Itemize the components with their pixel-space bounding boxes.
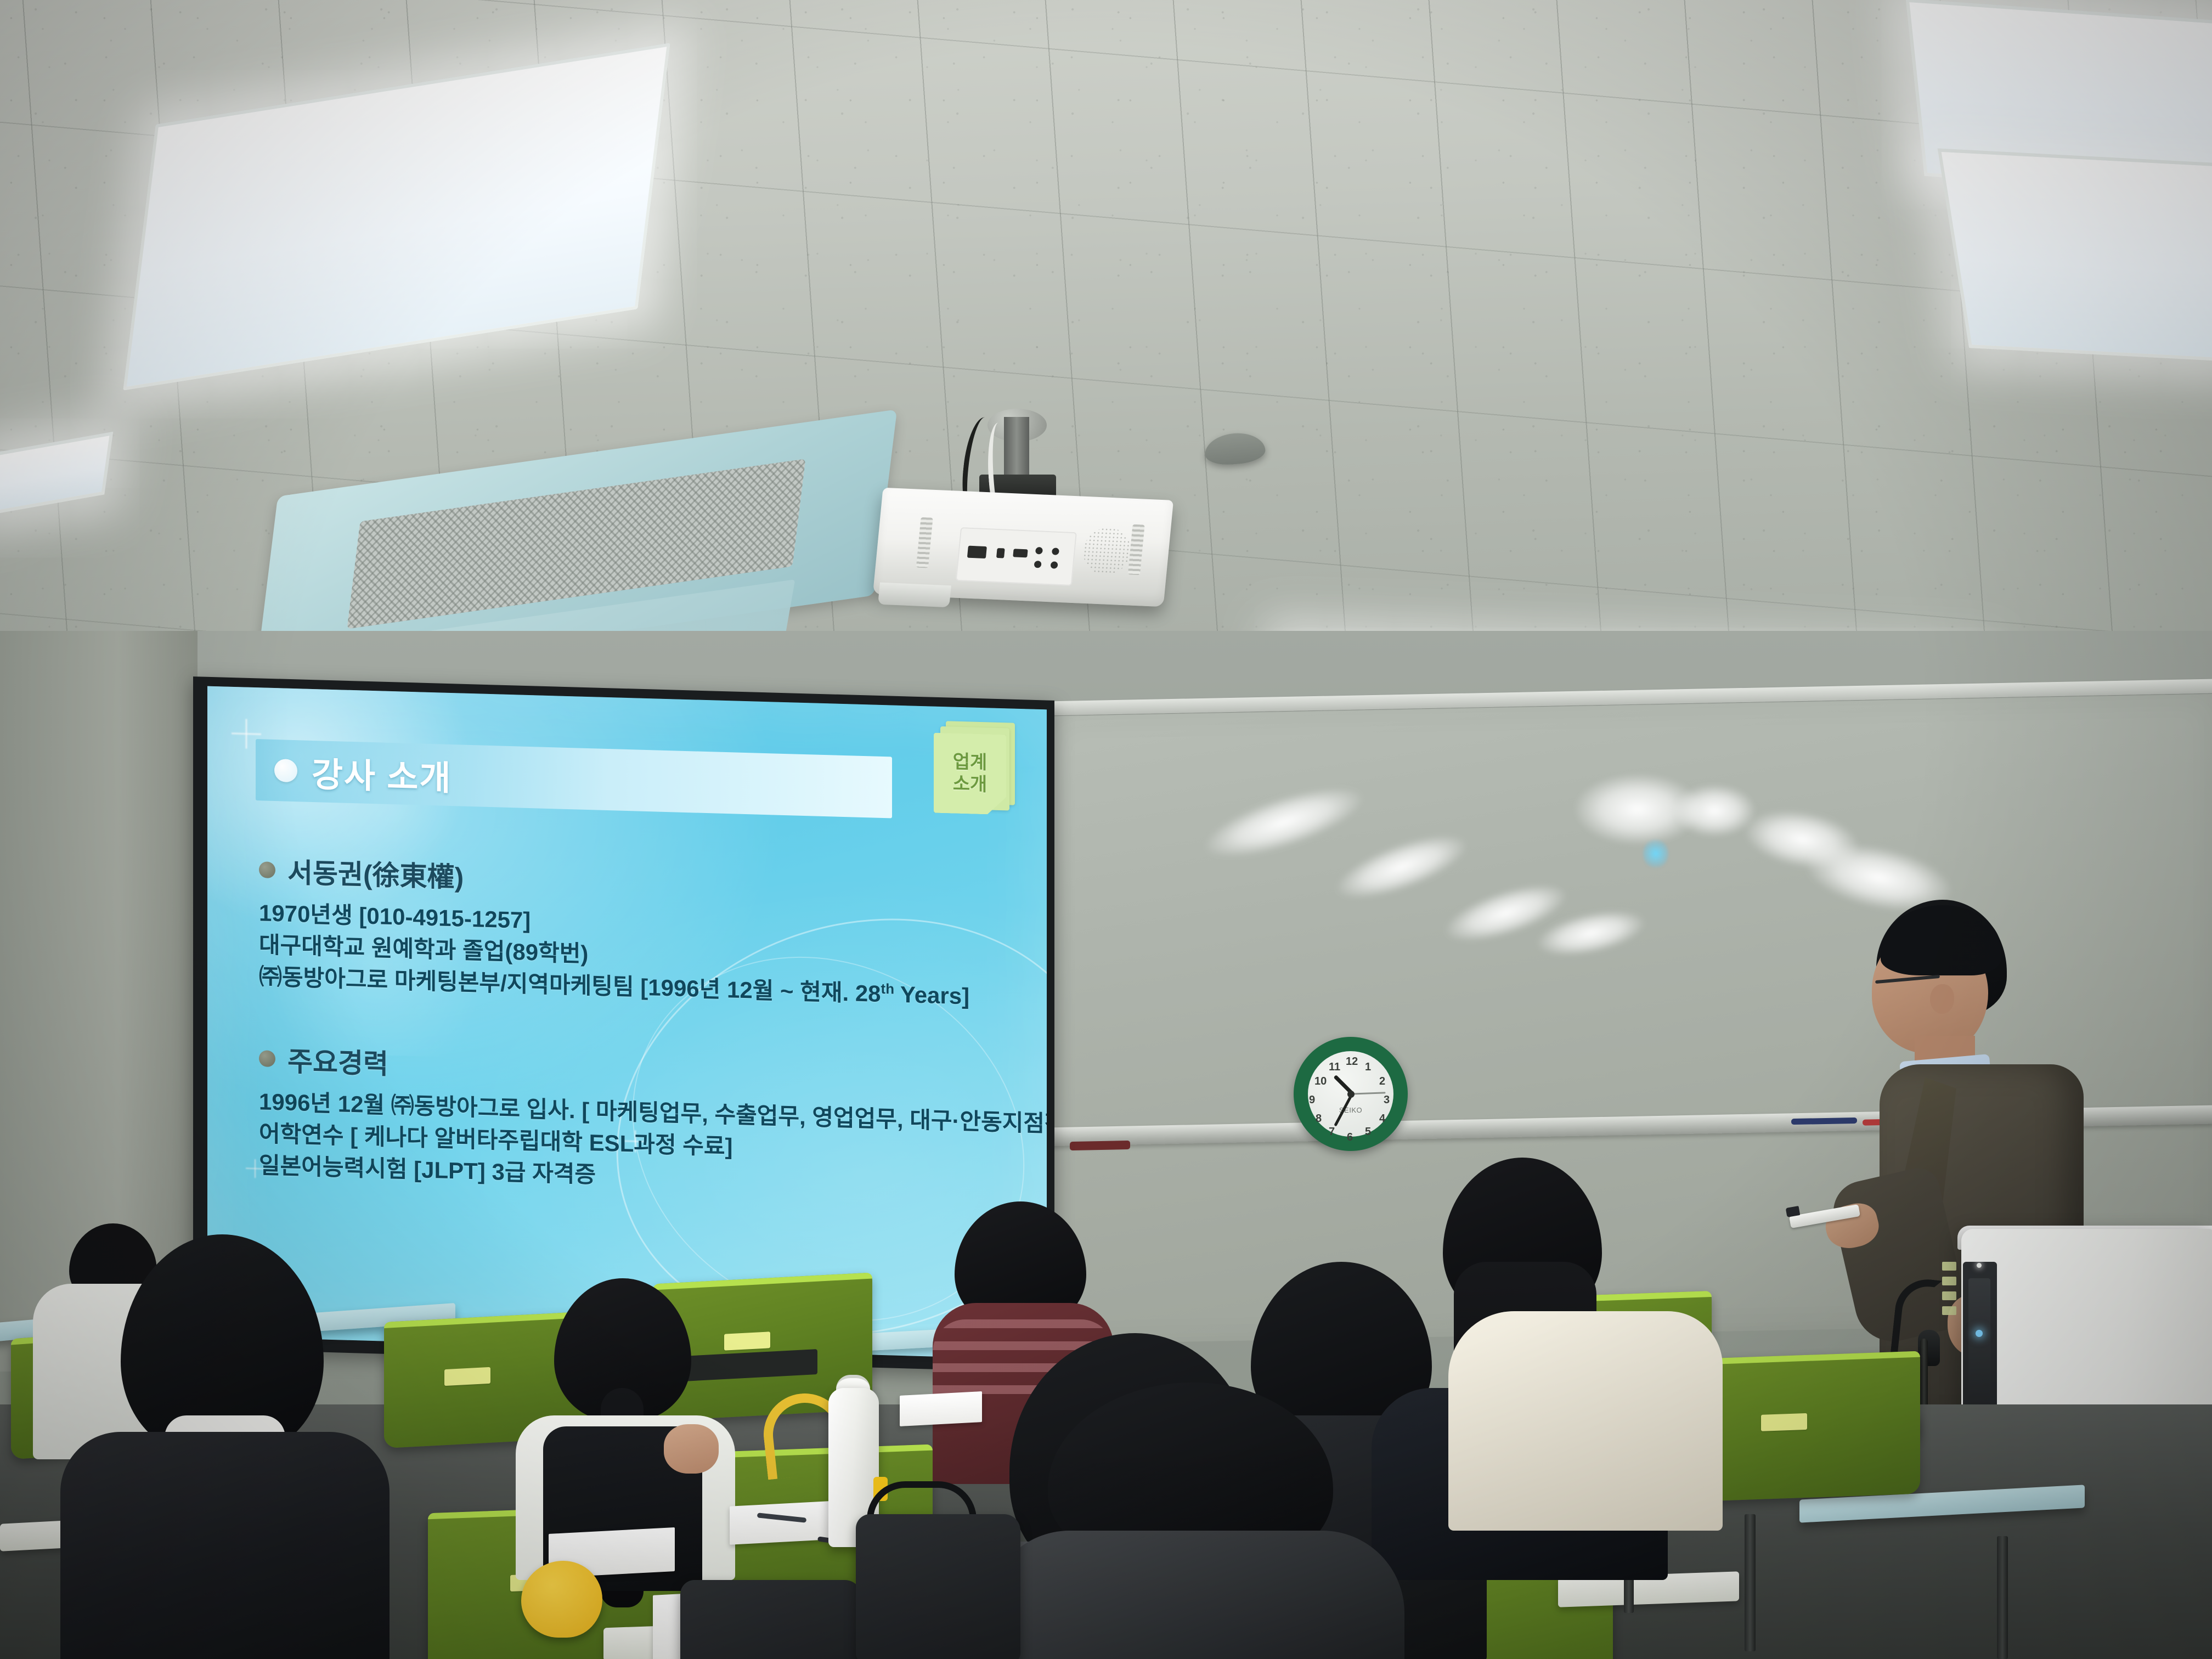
student-hand [664,1424,719,1474]
line-superscript: th [881,980,895,997]
student-cream [1448,1223,1723,1531]
classroom-photo: 12 1 2 3 4 5 6 7 8 9 10 11 SEIKO [0,0,2212,1659]
clock-numeral: 3 [1384,1094,1390,1107]
whiteboard-blue-reflection [1643,838,1668,869]
lectern-power-led [1977,1263,1982,1268]
desk-leg [1745,1514,1756,1651]
clock-numeral: 7 [1329,1126,1335,1138]
pencil-case[interactable] [900,1391,982,1426]
clock-numeral: 11 [1329,1061,1340,1074]
bullet-dot-icon [259,1050,275,1067]
projector-jack [1035,547,1043,555]
line-post: Years] [894,981,969,1009]
clock-numeral: 4 [1379,1113,1385,1125]
student-foreground-center [988,1383,1404,1659]
lectern-sticker [1942,1291,1956,1300]
lectern-sticker [1942,1262,1956,1271]
lectern-sticker [1942,1277,1956,1285]
tab-label-line1: 업계 [953,753,988,773]
clock-numeral: 12 [1346,1056,1358,1068]
projector-jack [1034,561,1042,568]
projector-lens [878,583,951,608]
clock-numeral: 1 [1365,1061,1371,1074]
lectern-status-led [1976,1330,1983,1337]
clock-numeral: 8 [1316,1113,1322,1125]
projector-speaker [1081,527,1133,575]
chair[interactable] [1690,1351,1920,1502]
ceiling-light-panel [1938,148,2212,367]
student-cream-sweater [1448,1311,1723,1531]
whiteboard-eraser[interactable] [1070,1141,1130,1150]
projector-port-panel [956,527,1077,585]
student-foreground-torso [988,1531,1404,1659]
slide-section-heading: 주요경력 [287,1040,388,1082]
yellow-plush-toy[interactable] [521,1561,602,1638]
student-front-left [55,1234,395,1659]
slide-title-bar: 강사 소개 [256,739,892,818]
projector-port [1013,549,1028,558]
clock-numeral: 2 [1379,1075,1385,1088]
slide-corner-tab: 업계 소개 [934,721,1016,815]
bullet-dot-icon [259,861,275,878]
clock-numeral: 10 [1314,1075,1327,1088]
projector-port [996,548,1005,558]
backpack[interactable] [856,1514,1020,1659]
slide-title: 강사 소개 [312,747,452,800]
slide-title-bullet-icon [274,759,297,782]
whiteboard-glare [1673,785,1756,837]
clock-numeral: 6 [1347,1131,1353,1144]
clock-center-pin [1347,1091,1355,1098]
tab-label: 업계 소개 [934,733,1006,815]
lectern-sticker-group [1942,1262,1960,1344]
backpack[interactable] [680,1580,861,1659]
projector-port [967,546,987,558]
clock-numeral: 9 [1309,1094,1315,1107]
chair-label [1761,1413,1807,1431]
slide-body: 서동권(徐東權) 1970년생 [010-4915-1257] 대구대학교 원예… [259,850,1017,1202]
slide-section-heading: 서동권(徐東權) [287,851,464,895]
projector-jack [1052,548,1059,555]
ceiling-projector [873,488,1173,607]
clock-face: 12 1 2 3 4 5 6 7 8 9 10 11 SEIKO [1308,1051,1393,1137]
presenter-ear [1930,984,1954,1014]
projector-vent [916,517,933,568]
tab-label-line2: 소개 [953,775,988,795]
wall-clock: 12 1 2 3 4 5 6 7 8 9 10 11 SEIKO [1294,1037,1408,1151]
lectern-sticker [1942,1306,1956,1315]
projector-jack [1050,561,1058,569]
student-black-jacket [60,1432,390,1659]
desk-leg [1997,1536,2008,1659]
clock-numeral: 5 [1365,1126,1371,1138]
clock-second-hand [1351,1092,1385,1094]
